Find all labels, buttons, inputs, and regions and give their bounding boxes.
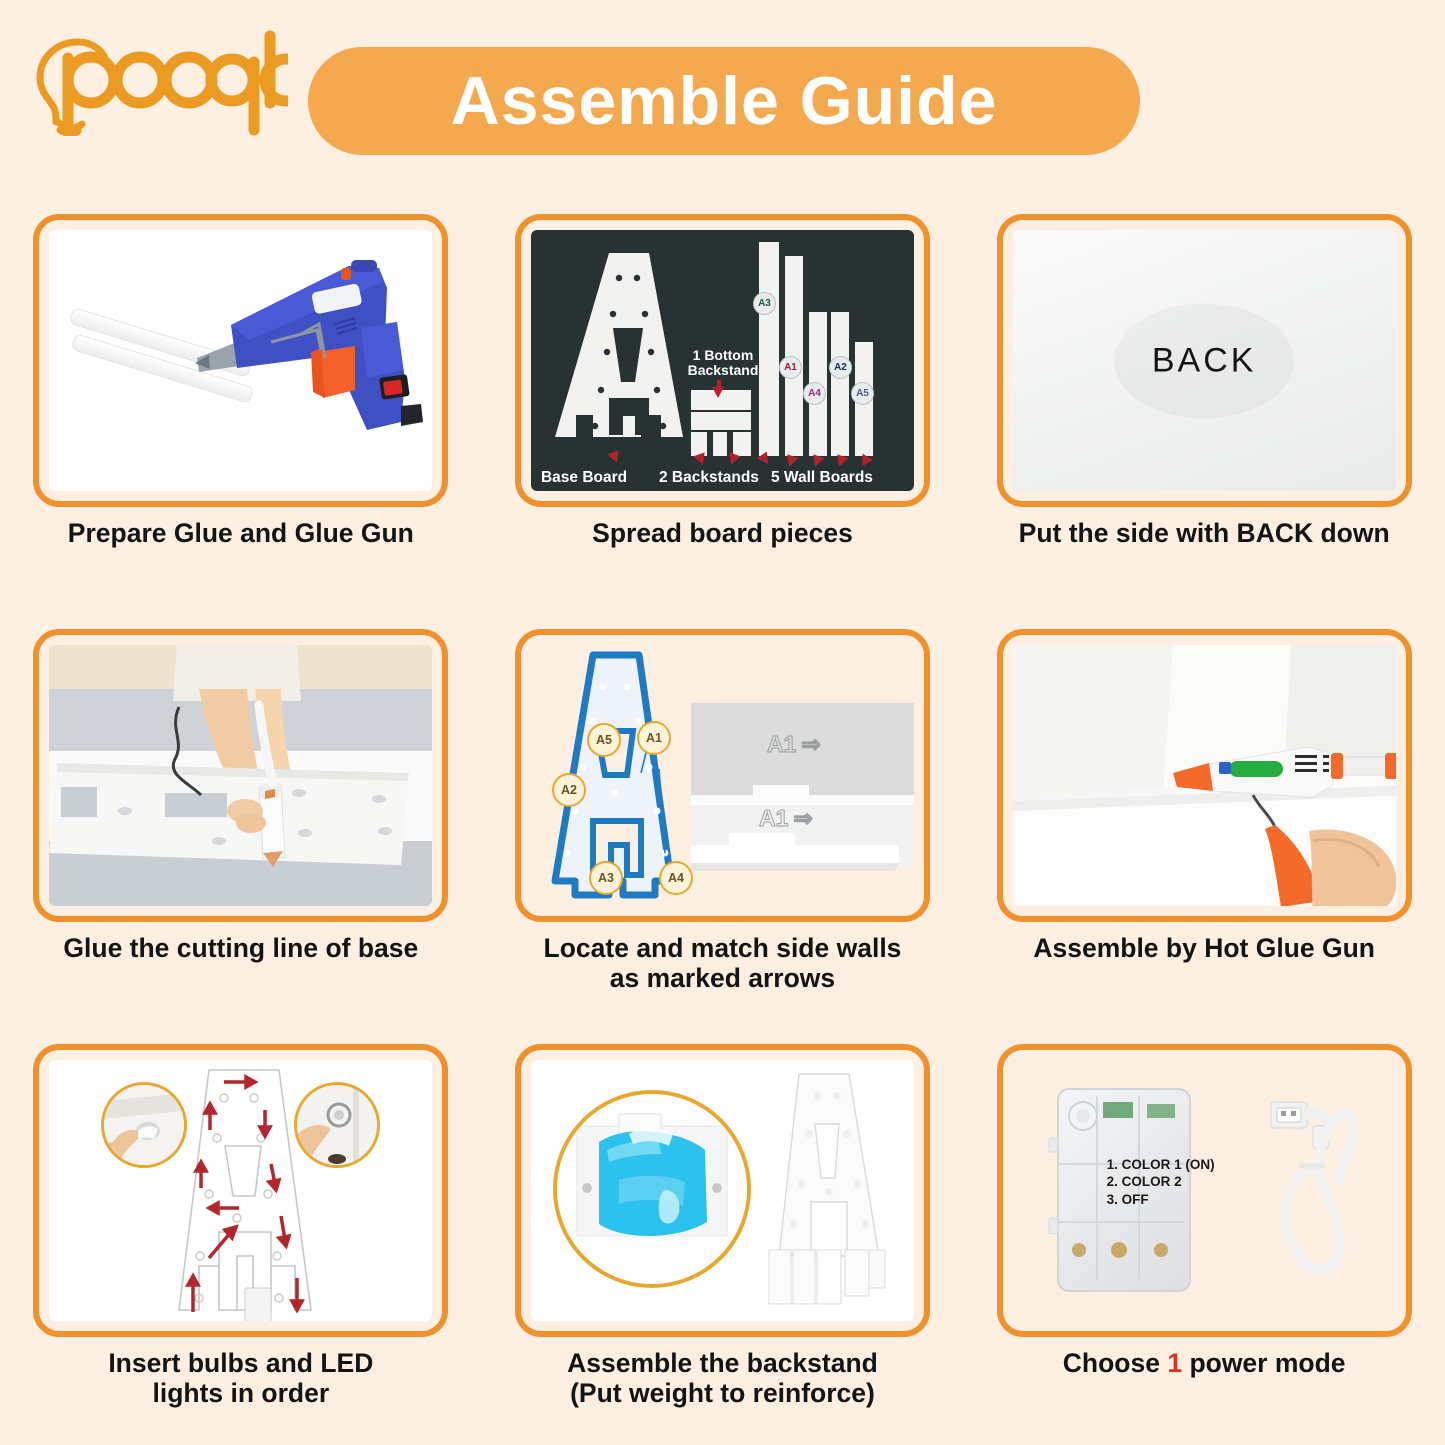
side-wall-matching-graphic: A5 A1 A2 A3 A4 A1⇒ A1⇒: [531, 645, 914, 906]
glue-gun-icon: [49, 230, 432, 491]
bulb-insert-closeup-right: [294, 1082, 380, 1168]
wall-mark-a1-upper: A1⇒: [767, 731, 821, 758]
marker-badge-a3: A3: [589, 861, 623, 895]
blue-outline-letter-a-icon: [531, 645, 914, 906]
wall-board: [831, 312, 849, 456]
steps-grid: Prepare Glue and Glue Gun: [0, 200, 1445, 1445]
brand-logo: [18, 18, 288, 136]
page-header: Assemble Guide: [0, 0, 1445, 190]
step-caption-8: Assemble the backstand (Put weight to re…: [502, 1349, 942, 1409]
step-caption-6: Assemble by Hot Glue Gun: [984, 934, 1424, 964]
step-image-panel-5: A5 A1 A2 A3 A4 A1⇒ A1⇒: [515, 629, 930, 922]
base-board-label: Base Board: [541, 469, 627, 487]
step-caption-5: Locate and match side walls as marked ar…: [502, 934, 942, 994]
back-label: BACK: [1152, 341, 1257, 380]
hot-glue-assembly-photo: [1013, 645, 1396, 906]
marker-badge-a5: A5: [587, 723, 621, 757]
bulb-insert-closeup-left: [101, 1082, 187, 1168]
marker-badge-a4: A4: [659, 861, 693, 895]
glue-cutting-line-photo: [49, 645, 432, 906]
step-caption-2: Spread board pieces: [502, 519, 942, 549]
step-image-panel-7: [33, 1044, 448, 1337]
power-mode-count: 1: [1167, 1348, 1182, 1378]
marker-badge-a3: A3: [753, 292, 776, 315]
step-image-panel-2: A3 A1 A4 A2 A5 1 Bottom Backstand Base B…: [515, 214, 930, 507]
hot-glue-gun-scene: [1013, 645, 1396, 906]
backstands-label: 2 Backstands: [659, 469, 759, 487]
step-image-panel-4: [33, 629, 448, 922]
step-image-panel-8: [515, 1044, 930, 1337]
back-side-photo: BACK: [1013, 230, 1396, 491]
step-image-panel-9: 1. COLOR 1 (ON) 2. COLOR 2 3. OFF: [997, 1044, 1412, 1337]
step-image-panel-3: BACK: [997, 214, 1412, 507]
step-card-5: A5 A1 A2 A3 A4 A1⇒ A1⇒: [482, 615, 964, 1030]
bottom-backstand-label: 1 Bottom Backstand: [679, 348, 767, 379]
step-caption-9: Choose 1 power mode: [984, 1349, 1424, 1379]
step-image-panel-6: [997, 629, 1412, 922]
step-caption-1: Prepare Glue and Glue Gun: [21, 519, 461, 549]
weight-bag-closeup: [553, 1090, 751, 1288]
power-mode-list: 1. COLOR 1 (ON) 2. COLOR 2 3. OFF: [1107, 1156, 1215, 1208]
marker-badge-a2: A2: [552, 773, 586, 807]
marker-badge-a2: A2: [829, 356, 852, 379]
step-card-3: BACK Put the side with BACK down: [963, 200, 1445, 615]
step-caption-7: Insert bulbs and LED lights in order: [21, 1349, 461, 1409]
step-image-panel-1: [33, 214, 448, 507]
marker-badge-a1: A1: [637, 721, 671, 755]
letter-a-wiring-icon: [49, 1060, 432, 1321]
glue-gun-photo: [49, 230, 432, 491]
step-card-2: A3 A1 A4 A2 A5 1 Bottom Backstand Base B…: [482, 200, 964, 615]
marker-badge-a4: A4: [803, 382, 826, 405]
marker-badge-a1: A1: [779, 356, 802, 379]
board-pieces-diagram: A3 A1 A4 A2 A5 1 Bottom Backstand Base B…: [531, 230, 914, 491]
step-card-1: Prepare Glue and Glue Gun: [0, 200, 482, 615]
backstand-weight-photo: [531, 1060, 914, 1321]
wall-boards-label: 5 Wall Boards: [771, 469, 873, 487]
wall-mark-a1-lower: A1⇒: [759, 805, 813, 832]
step-card-6: Assemble by Hot Glue Gun: [963, 615, 1445, 1030]
page-title: Assemble Guide: [451, 67, 998, 135]
bulb-insertion-diagram: [49, 1060, 432, 1321]
step-card-9: 1. COLOR 1 (ON) 2. COLOR 2 3. OFF Choose…: [963, 1030, 1445, 1445]
step-caption-3: Put the side with BACK down: [984, 519, 1424, 549]
step-card-7: Insert bulbs and LED lights in order: [0, 1030, 482, 1445]
lightbulb-icon: [18, 18, 288, 136]
marker-badge-a5: A5: [851, 382, 874, 405]
step-card-8: Assemble the backstand (Put weight to re…: [482, 1030, 964, 1445]
power-mode-photo: 1. COLOR 1 (ON) 2. COLOR 2 3. OFF: [1013, 1060, 1396, 1321]
step-caption-4: Glue the cutting line of base: [21, 934, 461, 964]
step-card-4: Glue the cutting line of base: [0, 615, 482, 1030]
gluing-scene-illustration: [49, 645, 432, 906]
page-title-banner: Assemble Guide: [308, 47, 1140, 155]
